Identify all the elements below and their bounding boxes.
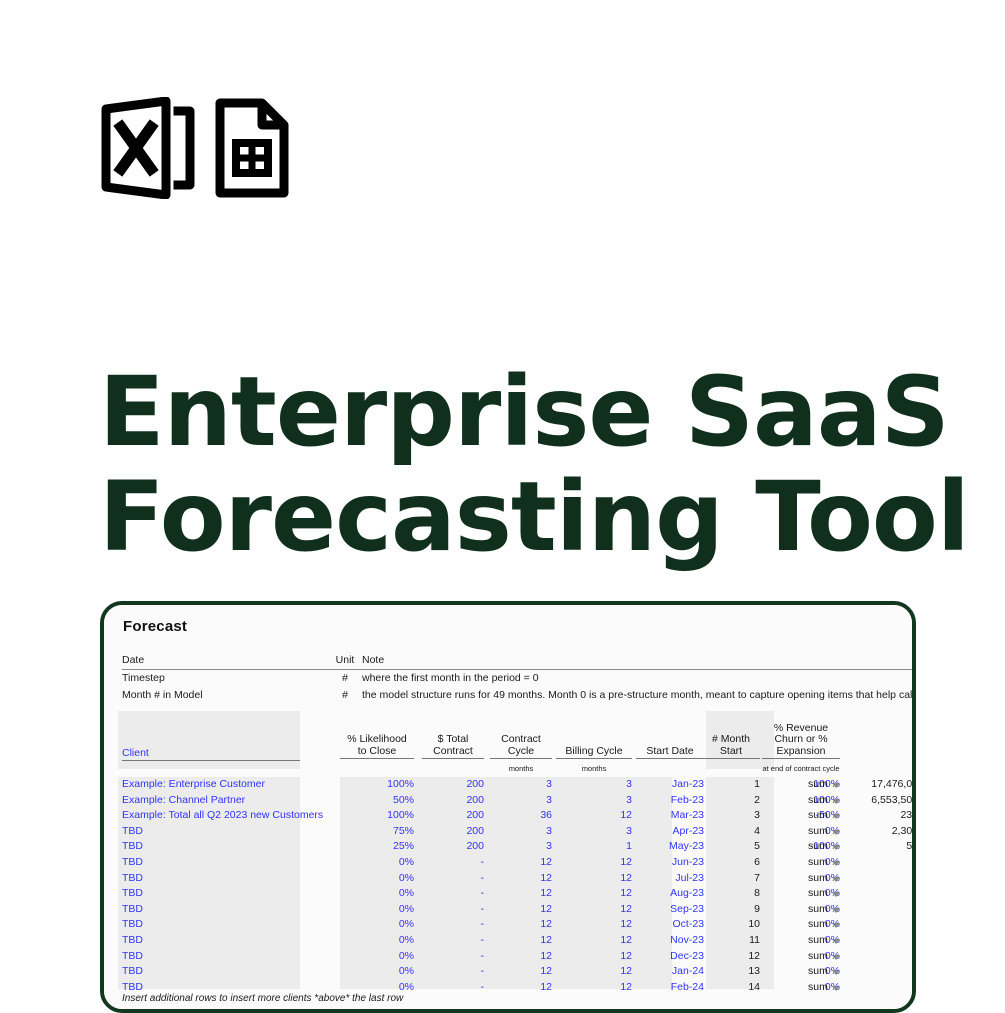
definitions-header-note: Note xyxy=(362,653,916,668)
column-header-churn-line2: Churn or % xyxy=(762,734,840,746)
cell-client[interactable]: TBD xyxy=(122,855,372,871)
cell-client[interactable]: TBD xyxy=(122,871,372,887)
column-header-revenue-churn-expansion: % Revenue Churn or % Expansion xyxy=(762,723,840,760)
chevron-down-icon[interactable] xyxy=(832,839,841,855)
cell-billing-cycle[interactable]: 12 xyxy=(556,855,632,871)
cell-month-start[interactable]: 2 xyxy=(702,793,760,809)
definitions-header-row: Date Unit Note xyxy=(122,653,912,670)
cell-likelihood[interactable]: 50% xyxy=(340,793,414,809)
cell-billing-cycle[interactable]: 12 xyxy=(556,949,632,965)
cell-month-start[interactable]: 10 xyxy=(702,917,760,933)
definition-unit: # xyxy=(325,687,365,704)
cell-total-contract[interactable]: - xyxy=(422,902,484,918)
chevron-down-icon[interactable] xyxy=(832,902,841,918)
cell-billing-cycle[interactable]: 12 xyxy=(556,902,632,918)
cell-billing-cycle[interactable]: 12 xyxy=(556,964,632,980)
cell-client[interactable]: TBD xyxy=(122,964,372,980)
cell-client[interactable]: Example: Channel Partner xyxy=(122,793,372,809)
table-row[interactable]: TBD0%-1212Jun-2360%sum- xyxy=(118,855,916,871)
cell-month-start[interactable]: 5 xyxy=(702,839,760,855)
chevron-down-icon[interactable] xyxy=(832,793,841,809)
cell-total-contract[interactable]: 200 xyxy=(422,824,484,840)
column-header-month-start-line1: # Month xyxy=(702,734,760,746)
column-subheader-churn-note: at end of contract cycle xyxy=(738,764,864,773)
cell-contract-cycle[interactable]: 12 xyxy=(490,980,552,996)
cell-start-date[interactable]: Jan-23 xyxy=(636,777,704,793)
chevron-down-icon[interactable] xyxy=(832,824,841,840)
cell-likelihood[interactable]: 0% xyxy=(340,949,414,965)
table-row[interactable]: TBD0%-1212Jul-2370%sum- xyxy=(118,871,916,887)
cell-likelihood[interactable]: 0% xyxy=(340,933,414,949)
cell-client[interactable]: TBD xyxy=(122,949,372,965)
cell-start-date[interactable]: Jul-23 xyxy=(636,871,704,887)
cell-month-start[interactable]: 8 xyxy=(702,886,760,902)
table-row[interactable]: TBD75%20033Apr-2340%sum2,300 xyxy=(118,824,916,840)
chevron-down-icon[interactable] xyxy=(832,871,841,887)
page-title-line-2: Forecasting Tool xyxy=(99,465,959,570)
table-row[interactable]: TBD0%-1212Sep-2390%sum- xyxy=(118,902,916,918)
column-header-start-date-line1: Start Date xyxy=(636,746,704,758)
cell-total-contract[interactable]: 200 xyxy=(422,808,484,824)
cell-billing-cycle[interactable]: 12 xyxy=(556,808,632,824)
cell-total-contract[interactable]: - xyxy=(422,964,484,980)
cell-start-date[interactable]: Sep-23 xyxy=(636,902,704,918)
forecast-table-header-row: Client % Likelihood to Close $ Total Con… xyxy=(118,711,916,777)
definitions-header-date: Date xyxy=(122,653,322,668)
cell-likelihood[interactable]: 75% xyxy=(340,824,414,840)
sheet-title: Forecast xyxy=(123,618,187,635)
cell-start-date[interactable]: Jun-23 xyxy=(636,855,704,871)
cell-total-contract[interactable]: 200 xyxy=(422,793,484,809)
column-header-likelihood-line2: to Close xyxy=(340,746,414,758)
excel-file-icon xyxy=(98,97,196,199)
column-header-month-start: # Month Start xyxy=(702,734,760,759)
cell-billing-cycle[interactable]: 3 xyxy=(556,824,632,840)
cell-start-date[interactable]: Mar-23 xyxy=(636,808,704,824)
cell-billing-cycle[interactable]: 3 xyxy=(556,777,632,793)
column-subheader-contract-cycle-units: months xyxy=(490,764,552,773)
definitions-row-timestep: Timestep # where the first month in the … xyxy=(122,670,912,687)
cell-total-contract[interactable]: - xyxy=(422,949,484,965)
cell-start-date[interactable]: Dec-23 xyxy=(636,949,704,965)
client-column-shading-continuation xyxy=(118,1009,300,1013)
cell-client[interactable]: TBD xyxy=(122,839,372,855)
spreadsheet-document-icon xyxy=(214,97,290,199)
column-header-month-start-line2: Start xyxy=(702,746,760,758)
cell-total-contract[interactable]: - xyxy=(422,917,484,933)
cell-client[interactable]: TBD xyxy=(122,917,372,933)
column-header-contract-cycle: Contract Cycle xyxy=(490,734,552,759)
cell-month-start[interactable]: 3 xyxy=(702,808,760,824)
table-row[interactable]: Example: Enterprise Customer100%20033Jan… xyxy=(118,777,916,793)
definitions-table: Date Unit Note Timestep # where the firs… xyxy=(122,653,912,704)
cell-start-date[interactable]: Apr-23 xyxy=(636,824,704,840)
cell-contract-cycle[interactable]: 3 xyxy=(490,793,552,809)
table-row[interactable]: TBD0%-1212Nov-23110%sum- xyxy=(118,933,916,949)
cell-client[interactable]: Example: Enterprise Customer xyxy=(122,777,372,793)
chevron-down-icon[interactable] xyxy=(832,917,841,933)
cell-month-start[interactable]: 11 xyxy=(702,933,760,949)
cell-start-date[interactable]: Jan-24 xyxy=(636,964,704,980)
cell-likelihood[interactable]: 0% xyxy=(340,964,414,980)
cell-month-start[interactable]: 12 xyxy=(702,949,760,965)
cell-billing-cycle[interactable]: 3 xyxy=(556,793,632,809)
column-header-contract-cycle-line2: Cycle xyxy=(490,746,552,758)
page-title-line-1: Enterprise SaaS xyxy=(99,360,959,465)
chevron-down-icon[interactable] xyxy=(832,933,841,949)
cell-billing-cycle[interactable]: 12 xyxy=(556,886,632,902)
table-row[interactable]: TBD0%-1212Dec-23120%sum- xyxy=(118,949,916,965)
cell-total-contract[interactable]: 200 xyxy=(422,777,484,793)
forecast-table: Client % Likelihood to Close $ Total Con… xyxy=(118,711,916,995)
chevron-down-icon[interactable] xyxy=(832,808,841,824)
cell-month-start[interactable]: 14 xyxy=(702,980,760,996)
cell-billing-cycle[interactable]: 12 xyxy=(556,871,632,887)
cell-likelihood[interactable]: 0% xyxy=(340,855,414,871)
cell-likelihood[interactable]: 0% xyxy=(340,917,414,933)
cell-month-start[interactable]: 7 xyxy=(702,871,760,887)
cell-start-date[interactable]: Feb-24 xyxy=(636,980,704,996)
cell-client[interactable]: Example: Total all Q2 2023 new Customers xyxy=(122,808,372,824)
cell-total-contract[interactable]: - xyxy=(422,871,484,887)
table-row[interactable]: TBD0%-1212Jan-24130%sum- xyxy=(118,964,916,980)
chevron-down-icon[interactable] xyxy=(832,949,841,965)
cell-contract-cycle[interactable]: 36 xyxy=(490,808,552,824)
column-header-total-contract: $ Total Contract xyxy=(422,734,484,759)
spreadsheet-canvas: Forecast Date Unit Note Timestep # where… xyxy=(104,605,916,1013)
column-subheader-billing-cycle-units: months xyxy=(556,764,632,773)
table-row[interactable]: TBD0%-1212Aug-2380%sum- xyxy=(118,886,916,902)
column-header-billing-cycle-line1: Billing Cycle xyxy=(556,746,632,758)
column-header-billing-cycle: Billing Cycle xyxy=(556,746,632,760)
forecast-spreadsheet-card: Forecast Date Unit Note Timestep # where… xyxy=(100,601,916,1013)
column-header-client[interactable]: Client xyxy=(122,748,300,762)
cell-month-start[interactable]: 13 xyxy=(702,964,760,980)
cell-contract-cycle[interactable]: 12 xyxy=(490,871,552,887)
cell-contract-cycle[interactable]: 12 xyxy=(490,886,552,902)
cell-total-contract[interactable]: - xyxy=(422,980,484,996)
definition-note: where the first month in the period = 0 xyxy=(362,670,916,687)
column-header-start-date: Start Date xyxy=(636,746,704,760)
definition-note: the model structure runs for 49 months. … xyxy=(362,687,916,704)
cell-month-start[interactable]: 6 xyxy=(702,855,760,871)
cell-likelihood[interactable]: 100% xyxy=(340,808,414,824)
definition-label: Month # in Model xyxy=(122,687,322,704)
column-header-contract-cycle-line1: Contract xyxy=(490,734,552,746)
cell-billing-cycle[interactable]: 12 xyxy=(556,917,632,933)
chevron-down-icon[interactable] xyxy=(832,886,841,902)
table-row[interactable]: Example: Channel Partner50%20033Feb-2321… xyxy=(118,793,916,809)
column-header-likelihood-to-close: % Likelihood to Close xyxy=(340,734,414,759)
cell-billing-cycle[interactable]: 12 xyxy=(556,980,632,996)
cell-total-contract[interactable]: - xyxy=(422,933,484,949)
table-footnote: Insert additional rows to insert more cl… xyxy=(122,993,403,1004)
table-row[interactable]: TBD0%-1212Oct-23100%sum- xyxy=(118,917,916,933)
definitions-header-unit: Unit xyxy=(325,653,365,668)
cell-likelihood[interactable]: 25% xyxy=(340,839,414,855)
cell-contract-cycle[interactable]: 12 xyxy=(490,964,552,980)
hero-icon-group xyxy=(98,97,290,199)
cell-start-date[interactable]: Nov-23 xyxy=(636,933,704,949)
cell-client[interactable]: TBD xyxy=(122,933,372,949)
cell-contract-cycle[interactable]: 3 xyxy=(490,777,552,793)
cell-contract-cycle[interactable]: 12 xyxy=(490,902,552,918)
chevron-down-icon[interactable] xyxy=(832,855,841,871)
cell-billing-cycle[interactable]: 12 xyxy=(556,933,632,949)
cell-contract-cycle[interactable]: 12 xyxy=(490,855,552,871)
cell-client[interactable]: TBD xyxy=(122,824,372,840)
chevron-down-icon[interactable] xyxy=(832,980,841,996)
table-row[interactable]: Example: Total all Q2 2023 new Customers… xyxy=(118,808,916,824)
cell-likelihood[interactable]: 0% xyxy=(340,871,414,887)
cell-month-start[interactable]: 1 xyxy=(702,777,760,793)
definitions-row-month-number: Month # in Model # the model structure r… xyxy=(122,687,912,704)
cell-start-date[interactable]: May-23 xyxy=(636,839,704,855)
cell-contract-cycle[interactable]: 12 xyxy=(490,933,552,949)
column-header-total-contract-line2: Contract xyxy=(422,746,484,758)
cell-total-contract[interactable]: - xyxy=(422,886,484,902)
cell-start-date[interactable]: Feb-23 xyxy=(636,793,704,809)
cell-client[interactable]: TBD xyxy=(122,886,372,902)
cell-month-start[interactable]: 9 xyxy=(702,902,760,918)
page-title: Enterprise SaaS Forecasting Tool xyxy=(99,360,959,570)
table-row[interactable]: TBD25%20031May-235-100%sum50 xyxy=(118,839,916,855)
cell-total-contract[interactable]: 200 xyxy=(422,839,484,855)
column-header-churn-line3: Expansion xyxy=(762,746,840,758)
cell-likelihood[interactable]: 0% xyxy=(340,886,414,902)
cell-start-date[interactable]: Oct-23 xyxy=(636,917,704,933)
cell-total-contract[interactable]: - xyxy=(422,855,484,871)
cell-start-date[interactable]: Aug-23 xyxy=(636,886,704,902)
column-header-total-contract-line1: $ Total xyxy=(422,734,484,746)
cell-contract-cycle[interactable]: 3 xyxy=(490,839,552,855)
forecast-table-body: Example: Enterprise Customer100%20033Jan… xyxy=(118,777,916,995)
cell-client[interactable]: TBD xyxy=(122,902,372,918)
cell-billing-cycle[interactable]: 1 xyxy=(556,839,632,855)
definition-unit: # xyxy=(325,670,365,687)
chevron-down-icon[interactable] xyxy=(832,777,841,793)
chevron-down-icon[interactable] xyxy=(832,964,841,980)
cell-month-start[interactable]: 4 xyxy=(702,824,760,840)
column-header-likelihood-line1: % Likelihood xyxy=(340,734,414,746)
cell-likelihood[interactable]: 0% xyxy=(340,902,414,918)
cell-contract-cycle[interactable]: 12 xyxy=(490,949,552,965)
cell-contract-cycle[interactable]: 12 xyxy=(490,917,552,933)
cell-contract-cycle[interactable]: 3 xyxy=(490,824,552,840)
definition-label: Timestep xyxy=(122,670,322,687)
cell-likelihood[interactable]: 100% xyxy=(340,777,414,793)
